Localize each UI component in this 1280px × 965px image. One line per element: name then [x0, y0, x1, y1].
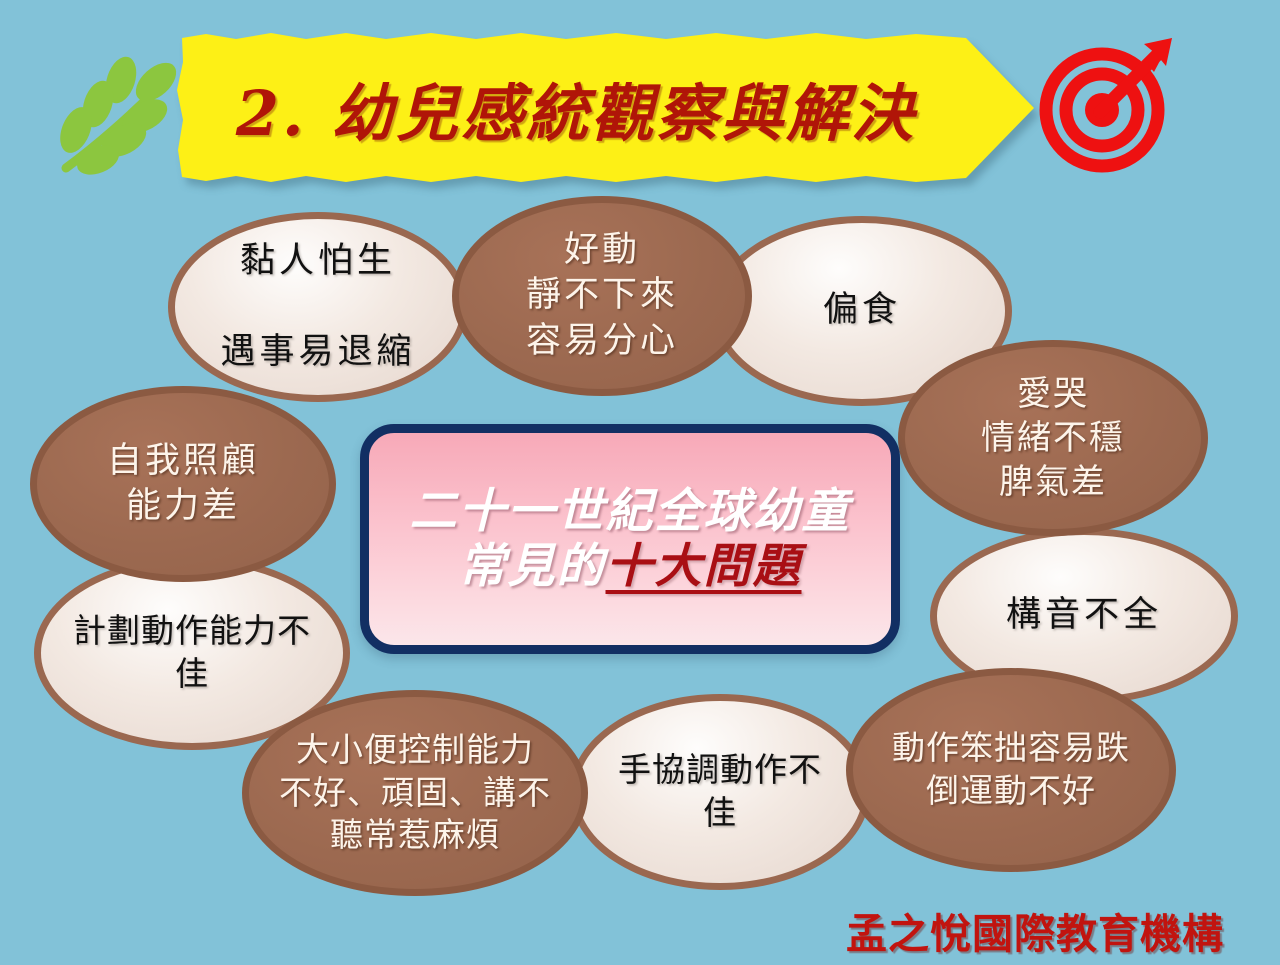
problem-bubble-label: 手協調動作不 佳 [577, 749, 863, 835]
center-panel-line-2-plain: 常見的 [459, 539, 606, 594]
center-panel-line-2: 常見的 十大問題 [459, 539, 802, 594]
title-banner: 2. 幼兒感統觀察與解決 [176, 30, 1036, 185]
target-bullseye-arrow-icon [1032, 34, 1180, 176]
center-panel-line-2-emphasis: 十大問題 [606, 539, 802, 594]
problem-bubble-toilet-control[interactable]: 大小便控制能力 不好、頑固、講不 聽常惹麻煩 [242, 690, 588, 896]
problem-bubble-label: 黏人怕生 遇事易退縮 [175, 239, 461, 376]
problem-bubble-label: 好動 靜不下來 容易分心 [459, 228, 745, 365]
center-topic-panel: 二十一世紀全球幼童 常見的 十大問題 [360, 424, 900, 654]
problem-bubble-label: 愛哭 情緒不穩 脾氣差 [905, 372, 1201, 505]
problem-bubble-hyperactive[interactable]: 好動 靜不下來 容易分心 [452, 196, 752, 396]
problem-bubble-crying-mood[interactable]: 愛哭 情緒不穩 脾氣差 [898, 340, 1208, 536]
problem-bubble-label: 構音不全 [937, 593, 1231, 639]
center-panel-line-1: 二十一世紀全球幼童 [410, 484, 851, 539]
problem-bubble-label: 大小便控制能力 不好、頑固、講不 聽常惹麻煩 [249, 729, 581, 858]
problem-bubble-clingy[interactable]: 黏人怕生 遇事易退縮 [168, 212, 468, 402]
footer-brand: 孟之悅國際教育機構 [846, 900, 1224, 960]
problem-bubble-self-care[interactable]: 自我照顧 能力差 [30, 386, 336, 582]
problem-bubble-label: 計劃動作能力不 佳 [41, 610, 343, 696]
problem-bubble-label: 自我照顧 能力差 [37, 439, 329, 530]
problem-bubble-label: 偏食 [719, 288, 1005, 334]
page-title: 2. 幼兒感統觀察與解決 [176, 30, 976, 185]
slide-canvas: 2. 幼兒感統觀察與解決 黏人怕生 遇事易退縮 好動 靜不下來 容易分心 偏食 … [0, 0, 1280, 965]
problem-bubble-label: 動作笨拙容易跌 倒運動不好 [853, 727, 1169, 813]
problem-bubble-hand-coordination[interactable]: 手協調動作不 佳 [570, 694, 870, 890]
problem-bubble-clumsiness[interactable]: 動作笨拙容易跌 倒運動不好 [846, 668, 1176, 872]
